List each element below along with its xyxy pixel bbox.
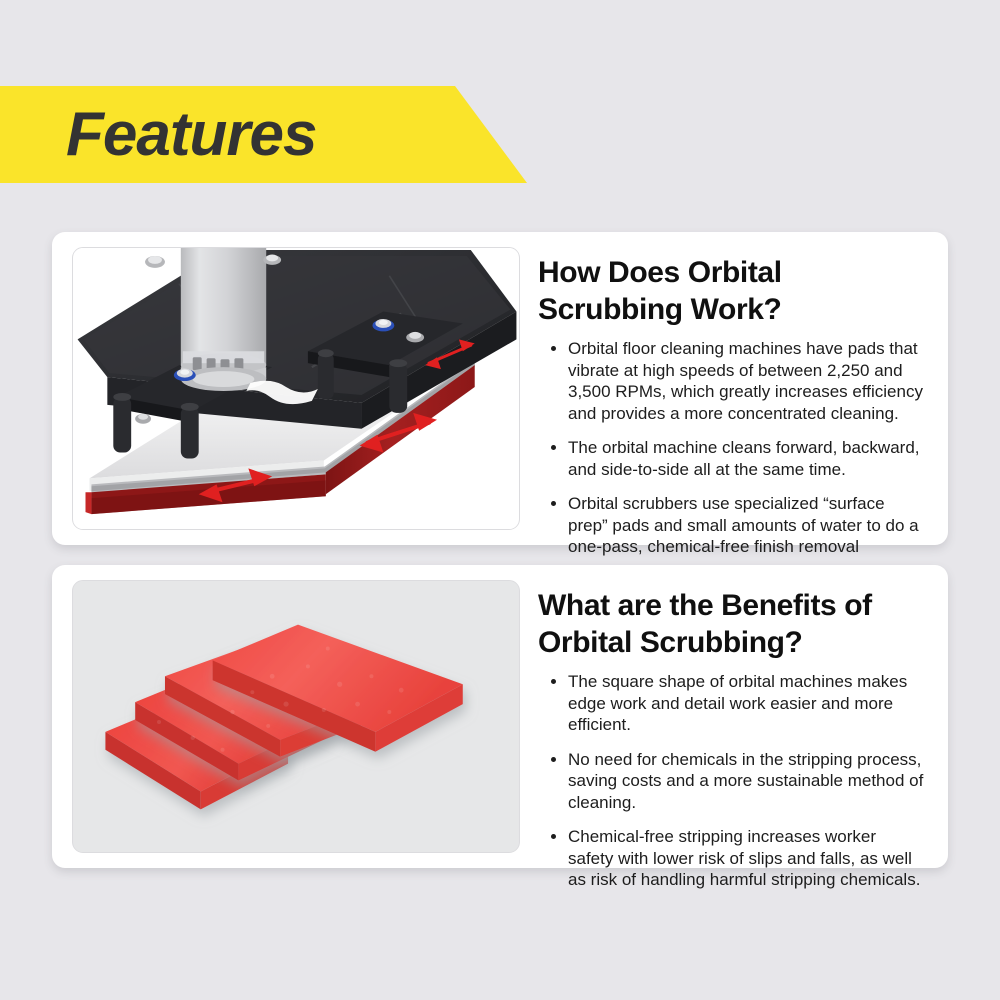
list-item-text: Orbital floor cleaning machines have pad… [568,339,923,423]
card-text-content: How Does Orbital Scrubbing Work? Orbital… [520,232,948,545]
features-banner: Features [0,86,540,185]
list-item: Chemical-free stripping increases worker… [538,826,926,891]
feature-card-how-orbital-scrubbing-works: How Does Orbital Scrubbing Work? Orbital… [52,232,948,545]
card-heading: How Does Orbital Scrubbing Work? [538,254,926,328]
orbital-scrubber-head-illustration [72,247,520,530]
bullet-dot-icon [551,445,556,450]
bullet-dot-icon [551,757,556,762]
orbital-scrubber-head-svg [73,248,519,529]
motor-housing [181,248,266,391]
red-scrubbing-pads-svg [73,581,519,852]
card-text-content: What are the Benefits of Orbital Scrubbi… [520,565,948,868]
bullet-dot-icon [551,679,556,684]
list-item-text: The square shape of orbital machines mak… [568,672,907,734]
list-item: Orbital floor cleaning machines have pad… [538,338,926,424]
feature-bullet-list: The square shape of orbital machines mak… [538,671,926,891]
bullet-dot-icon [551,834,556,839]
list-item: The square shape of orbital machines mak… [538,671,926,736]
feature-bullet-list: Orbital floor cleaning machines have pad… [538,338,926,579]
list-item-text: No need for chemicals in the stripping p… [568,750,923,812]
list-item-text: Chemical-free stripping increases worker… [568,827,920,889]
list-item: No need for chemicals in the stripping p… [538,749,926,814]
page-title: Features [66,98,316,172]
list-item: The orbital machine cleans forward, back… [538,437,926,480]
bullet-dot-icon [551,346,556,351]
card-heading: What are the Benefits of Orbital Scrubbi… [538,587,926,661]
feature-card-benefits-of-orbital-scrubbing: What are the Benefits of Orbital Scrubbi… [52,565,948,868]
bullet-dot-icon [551,501,556,506]
red-scrubbing-pads-photo [72,580,520,853]
list-item-text: The orbital machine cleans forward, back… [568,438,920,479]
